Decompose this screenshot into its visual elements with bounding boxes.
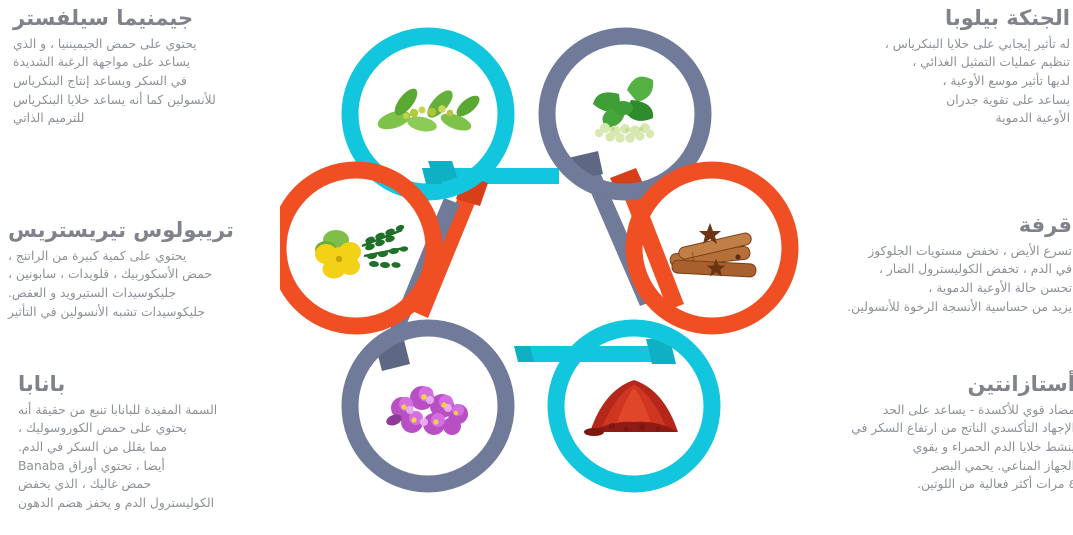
- banaba-line: مما يقلل من السكر في الدم.: [18, 438, 343, 457]
- cinnamon-title: قرفة: [790, 213, 1072, 239]
- tribulus-line: يحتوي على كمية كبيرة من الراتنج ،: [8, 247, 298, 266]
- text-block-astaxanthin: أستازانتين مضاد قوي للأكسدة - يساعد على …: [785, 372, 1073, 494]
- astaxanthin-line: ينشط خلايا الدم الحمراء و يقوي: [785, 438, 1073, 457]
- gymnema-title: جيمنيما سيلفستر: [13, 6, 313, 32]
- ring-icon-banaba: [385, 386, 468, 435]
- gymnema-line: يساعد على مواجهة الرغبة الشديدة: [13, 53, 313, 72]
- text-block-banaba: بانابا السمة المفيدة للبانابا تنبع من حق…: [18, 372, 343, 513]
- ginkgo-description: له تأثير إيجابي على خلايا البنكرياس ، تن…: [785, 35, 1070, 128]
- tribulus-title: تريبولوس تيريستريس: [8, 218, 298, 244]
- cinnamon-line: تسرع الأيض ، تخفض مستويات الجلوكوز: [790, 242, 1072, 261]
- gymnema-line: يحتوي على حمض الجيميننيا ، و الذي: [13, 35, 313, 54]
- tribulus-description: يحتوي على كمية كبيرة من الراتنج ، حمض ال…: [8, 247, 298, 322]
- ginkgo-line: يساعد على تقوية جدران: [785, 91, 1070, 110]
- infographic-canvas: جيمنيما سيلفستر يحتوي على حمض الجيميننيا…: [0, 0, 1073, 535]
- banaba-description: السمة المفيدة للبانابا تنبع من حقيقة أنه…: [18, 401, 343, 513]
- gymnema-line: في السكر ويساعد إنتاج البنكرياس: [13, 72, 313, 91]
- ginkgo-line: تنظيم عمليات التمثيل الغذائي ،: [785, 53, 1070, 72]
- ring-icon-tribulus: [315, 224, 409, 279]
- gymnema-line: للترميم الذاتي: [13, 109, 313, 128]
- astaxanthin-line: مضاد قوي للأكسدة - يساعد على الحد: [785, 401, 1073, 420]
- banaba-line: الكوليسترول الدم و يحفز هضم الدهون: [18, 494, 343, 513]
- text-block-gymnema: جيمنيما سيلفستر يحتوي على حمض الجيميننيا…: [13, 6, 313, 128]
- ginkgo-line: له تأثير إيجابي على خلايا البنكرياس ،: [785, 35, 1070, 54]
- gymnema-line: للأنسولين كما أنه يساعد خلايا البنكرياس: [13, 91, 313, 110]
- text-block-ginkgo: الجنكة بيلوبا له تأثير إيجابي على خلايا …: [785, 6, 1070, 128]
- banaba-line: السمة المفيدة للبانابا تنبع من حقيقة أنه: [18, 401, 343, 420]
- astaxanthin-line: ٤ مرات أكثر فعالية من اللوتين.: [785, 475, 1073, 494]
- gymnema-description: يحتوي على حمض الجيميننيا ، و الذي يساعد …: [13, 35, 313, 128]
- astaxanthin-description: مضاد قوي للأكسدة - يساعد على الحد الإجها…: [785, 401, 1073, 494]
- astaxanthin-line: الجهاز المناعي. يحمي البصر: [785, 457, 1073, 476]
- ring-icon-ginkgo: [593, 77, 654, 143]
- ginkgo-line: لديها تأثير موسع الأوعية ،: [785, 72, 1070, 91]
- ring-icon-astaxanthin: [584, 380, 678, 436]
- cinnamon-line: يزيد من حساسية الأنسجة الرخوة للأنسولين.: [790, 298, 1072, 317]
- tribulus-line: حمض الأسكوربيك ، قلويدات ، سابونين ،: [8, 265, 298, 284]
- tribulus-line: جليكوسيدات تشبه الأنسولين في التأثير: [8, 303, 298, 322]
- ginkgo-line: الأوعية الدموية: [785, 109, 1070, 128]
- banaba-title: بانابا: [18, 372, 343, 398]
- text-block-cinnamon: قرفة تسرع الأيض ، تخفض مستويات الجلوكوز …: [790, 213, 1072, 316]
- banaba-line: حمض غاليك ، الذي يخفض: [18, 475, 343, 494]
- banaba-line: يحتوي على حمض الكوروسوليك ،: [18, 419, 343, 438]
- cinnamon-line: في الدم ، تخفض الكوليسترول الضار ،: [790, 260, 1072, 279]
- astaxanthin-title: أستازانتين: [785, 372, 1073, 398]
- ring-icon-gymnema: [375, 85, 483, 134]
- cinnamon-line: تحسن حالة الأوعية الدموية ،: [790, 279, 1072, 298]
- banaba-line: أيضا ، تحتوي أوراق Banaba: [18, 457, 343, 476]
- hexagon-loop-diagram: [280, 8, 800, 528]
- tribulus-line: جليكوسيدات الستيرويد و العفص.: [8, 284, 298, 303]
- astaxanthin-line: الإجهاد التأكسدي الناتج من ارتفاع السكر …: [785, 419, 1073, 438]
- ring-icon-cinnamon: [670, 223, 757, 277]
- ginkgo-title: الجنكة بيلوبا: [785, 6, 1070, 32]
- text-block-tribulus: تريبولوس تيريستريس يحتوي على كمية كبيرة …: [8, 218, 298, 321]
- cinnamon-description: تسرع الأيض ، تخفض مستويات الجلوكوز في ال…: [790, 242, 1072, 317]
